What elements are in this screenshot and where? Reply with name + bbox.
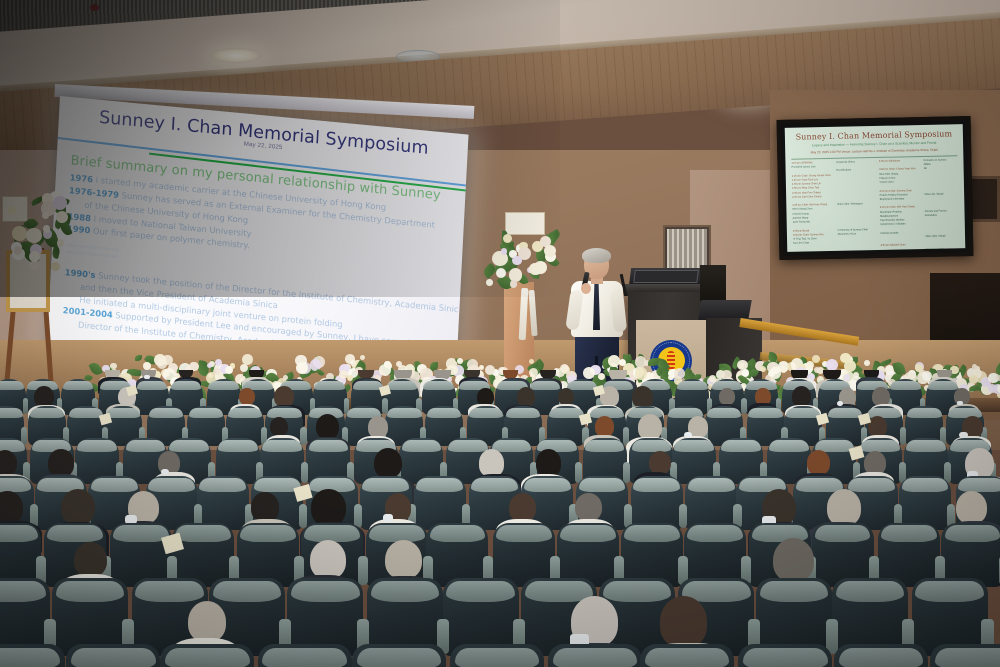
auditorium-seat[interactable] (258, 644, 352, 667)
bullet-year: 2001-2004 (63, 305, 113, 320)
auditorium-seat[interactable] (450, 644, 544, 667)
audience-member-head (719, 388, 735, 405)
seat-armrest (301, 462, 308, 483)
face-mask-icon (837, 401, 844, 406)
schedule-row (837, 194, 877, 198)
seat-armrest (679, 504, 687, 528)
auditorium-seat[interactable] (557, 523, 619, 587)
schedule-row: 1:50 pm Ming-Chao Tsai (792, 186, 834, 190)
schedule-row (837, 206, 877, 210)
audience-member-head (374, 448, 402, 478)
audience-member-head (274, 386, 294, 407)
speaker-hand (581, 283, 591, 294)
speaker-hair (582, 248, 611, 263)
schedule-row: Cytochrome c Oxidase (880, 222, 922, 226)
audience-member-head (956, 491, 987, 524)
schedule-row: 4:00 pm Chair: Sunney Chan (879, 189, 921, 193)
schedule-row: Academia Sinica (836, 160, 876, 164)
schedule-row: Recollections (836, 168, 876, 172)
schedule-row: In Memory of Sunney Chan (838, 227, 878, 231)
auditorium-seat[interactable] (426, 523, 488, 587)
schedule-row: 4:20 pm Chair: Wei-Hau Chang (880, 205, 922, 209)
side-monitor-subtitle: Legacy and Inspiration — Honoring Sunney… (791, 140, 957, 147)
audience-member-head (632, 386, 652, 408)
schedule-row: Closing remarks (925, 247, 959, 251)
auditorium-seat[interactable] (414, 476, 466, 530)
schedule-row: 4:50 pm Michael Chen (881, 243, 923, 247)
audience-member-head (0, 491, 23, 524)
schedule-row (925, 238, 959, 242)
schedule-row: Yi-Ren Chen (879, 180, 921, 184)
schedule-column: 3:35 pm Slideshow 3:40 pm Chair: Chung-Y… (879, 159, 923, 252)
audience-member-head (595, 416, 614, 437)
schedule-row: Yi-Ting Tsai, Yu Chen (793, 237, 835, 241)
auditorium-seat[interactable] (0, 644, 65, 667)
program-schedule-grid: 1:00 pm OPENINGPresident James Liao 1:15… (791, 155, 959, 252)
schedule-column: 1:00 pm OPENINGPresident James Liao 1:15… (791, 161, 835, 252)
schedule-row (837, 198, 877, 202)
schedule-column: Academia Sinica Recollections Video clip… (836, 160, 878, 252)
av-laptop[interactable] (698, 300, 752, 320)
schedule-row: Andrew Wang (793, 216, 835, 220)
schedule-row: 2:20 pm Jian-Chen Chang (792, 195, 834, 199)
schedule-row (924, 200, 958, 204)
audience-member-head (773, 538, 814, 582)
seat-armrest (900, 427, 906, 445)
seat-armrest (300, 427, 306, 445)
schedule-row: Video clips / Music (925, 234, 959, 238)
audience-member-head (638, 414, 662, 440)
audience-member-head (477, 388, 494, 406)
schedule-row: Friends and Former (925, 209, 959, 213)
auditorium-seat[interactable] (493, 523, 555, 587)
auditorium-seat[interactable] (110, 523, 172, 587)
audience-member-head (827, 489, 861, 526)
flower-bouquet-center (482, 232, 558, 290)
auditorium-seat[interactable] (237, 523, 299, 587)
schedule-row: Wen-Hsin Chang (879, 172, 921, 176)
auditorium-seat[interactable] (684, 523, 746, 587)
schedule-row (837, 223, 877, 227)
auditorium-scene: Sunney I. Chan Memorial Symposium May 22… (0, 0, 1000, 667)
audience-member-head (74, 542, 107, 577)
audience-member-head (509, 493, 536, 522)
auditorium-seat[interactable] (160, 644, 254, 667)
auditorium-seat[interactable] (878, 523, 940, 587)
schedule-row (924, 196, 958, 200)
schedule-row (792, 199, 834, 203)
schedule-column: Remarks on SunneyAffairsAll Video clip /… (924, 158, 960, 250)
schedule-row: Affairs (924, 162, 958, 166)
schedule-row (837, 211, 877, 215)
audience-seating (0, 370, 1000, 667)
auditorium-seat[interactable] (738, 644, 832, 667)
schedule-row (924, 184, 958, 188)
auditorium-seat[interactable] (197, 476, 249, 530)
schedule-row: 1:00 pm OPENING (791, 161, 833, 165)
auditorium-seat[interactable] (640, 644, 734, 667)
schedule-row (837, 219, 877, 223)
schedule-row (881, 239, 923, 243)
schedule-row: Wen-Chang Chen (792, 207, 834, 211)
schedule-row (879, 184, 921, 188)
schedule-row (924, 188, 958, 192)
schedule-row (836, 173, 876, 177)
schedule-row (924, 179, 958, 183)
audience-member-head (807, 450, 830, 475)
audience-member-head (239, 388, 255, 405)
schedule-row: Chia-Lin Chen (879, 176, 921, 180)
audience-member-head (479, 449, 505, 477)
schedule-row (925, 243, 959, 247)
seat-armrest (741, 398, 746, 414)
auditorium-seat[interactable] (941, 523, 1000, 587)
auditorium-seat[interactable] (548, 644, 642, 667)
audience-member-head (558, 388, 574, 405)
schedule-row (837, 190, 877, 194)
schedule-row (836, 164, 876, 168)
schedule-row (793, 224, 835, 228)
schedule-row: Memories of Lee (838, 232, 878, 236)
face-mask-icon (383, 514, 394, 522)
schedule-row (925, 217, 959, 221)
audience-member-head (270, 417, 288, 436)
face-mask-icon (161, 469, 170, 476)
audience-member-head (188, 601, 226, 642)
schedule-row (837, 215, 877, 219)
schedule-row: 3:20 pm Chair: Sunney Hsu (793, 233, 835, 237)
schedule-row: Remarks on Sunney (924, 158, 958, 162)
schedule-row: Biophysical Chemistry (880, 197, 922, 201)
audience-member-head (316, 414, 339, 439)
schedule-row: 2:05 pm Hsiu-Fen Chiang (792, 190, 834, 194)
bullet-year: 1976 (69, 173, 93, 185)
schedule-row: 3:35 pm Slideshow (879, 159, 921, 163)
side-monitor: Sunney I. Chan Memorial Symposium Legacy… (777, 116, 974, 260)
seat-armrest (299, 504, 307, 528)
schedule-row: Chia-Ni Kuang (792, 211, 834, 215)
schedule-row: 1:15 pm Chair: Chung-Hsuan Chen (792, 174, 834, 178)
side-monitor-screen: Sunney I. Chan Memorial Symposium Legacy… (785, 124, 966, 252)
audience-member-head (649, 451, 670, 474)
audience-member-head (792, 386, 811, 407)
schedule-row: 3:05 pm Break (793, 228, 835, 232)
audience-member-head (575, 493, 601, 521)
auditorium-seat[interactable] (685, 476, 737, 530)
auditorium-seat[interactable] (172, 523, 234, 587)
schedule-row: Jenn-Tseng Wu (793, 220, 835, 224)
seat-armrest (623, 462, 630, 483)
schedule-row (792, 169, 834, 173)
schedule-row: Membrane Proteins (880, 210, 922, 214)
audience-member-head (536, 449, 562, 477)
audience-member-head (311, 489, 345, 526)
schedule-row: President James Liao (792, 165, 834, 169)
audience-member-head (251, 492, 278, 522)
audience-member-head (868, 416, 887, 437)
schedule-row (925, 222, 959, 226)
schedule-row: Metalloenzymes (880, 214, 922, 218)
schedule-row (924, 171, 958, 175)
audience-member-head (660, 596, 708, 648)
bullet-year: 1976-1979 (69, 185, 119, 200)
schedule-row: Protein Folding Research (880, 193, 922, 197)
audience-member-head (872, 387, 890, 406)
schedule-row (880, 227, 922, 231)
audience-member-head (61, 489, 95, 525)
schedule-row (880, 201, 922, 205)
auditorium-seat[interactable] (66, 644, 160, 667)
schedule-row: All (924, 167, 958, 171)
auditorium-seat[interactable] (621, 523, 683, 587)
side-monitor-date: May 22, 2025 1:00 PM Venue: Lecture Hall… (791, 147, 957, 154)
av-equipment-stack (700, 265, 726, 301)
schedule-row: Video clip / Music (924, 192, 958, 196)
auditorium-seat[interactable] (812, 523, 874, 587)
schedule-row: Closing remarks (880, 231, 922, 235)
auditorium-seat[interactable] (631, 476, 683, 530)
schedule-row: 1:20 pm Yuan-Tseh Lee (792, 178, 834, 182)
auditorium-seat[interactable] (930, 644, 1000, 667)
flower-bouquet-left (6, 190, 70, 275)
audience-member-head (34, 386, 54, 407)
auditorium-seat[interactable] (834, 644, 928, 667)
ceiling-sensor-icon (90, 4, 99, 11)
audience-member-head (385, 540, 422, 580)
audience-member-head (48, 449, 73, 476)
audience-member-head (368, 416, 388, 438)
schedule-row (837, 181, 877, 185)
schedule-row (879, 163, 921, 167)
schedule-row: Kuo-Jen Chan (793, 241, 835, 245)
schedule-row: Associates (925, 213, 959, 217)
audience-member-head (310, 540, 346, 579)
schedule-row (925, 230, 959, 234)
schedule-row (925, 205, 959, 209)
downlight-icon (210, 48, 262, 63)
schedule-row (880, 235, 922, 239)
side-monitor-title: Sunney I. Chan Memorial Symposium (791, 129, 957, 141)
schedule-row: 1:35 pm Sunney Chan Lin (792, 182, 834, 186)
schedule-row (836, 177, 876, 181)
schedule-row (837, 185, 877, 189)
audience-member-head (517, 387, 536, 407)
auditorium-seat[interactable] (0, 523, 41, 587)
schedule-row: 2:35 pm Chair: Wei-Hau Chang (792, 203, 834, 207)
schedule-row: 3:40 pm Chair: Chung-Yuan Mou (879, 167, 921, 171)
schedule-row: Spectroscopy Studies (880, 218, 922, 222)
auditorium-seat[interactable] (352, 644, 446, 667)
audience-member-head (864, 451, 886, 475)
schedule-row (924, 175, 958, 179)
schedule-row (925, 226, 959, 230)
schedule-row: Video clips / Messages (837, 202, 877, 206)
seat-armrest (358, 556, 368, 585)
auditorium-seat[interactable] (899, 476, 951, 530)
